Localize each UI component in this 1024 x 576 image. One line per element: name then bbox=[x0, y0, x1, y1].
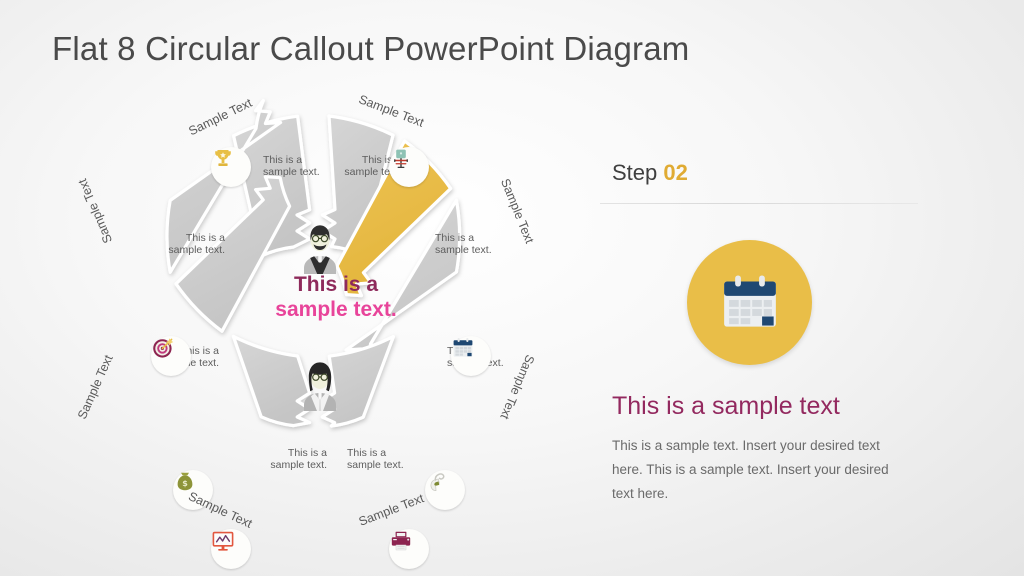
step-number: 02 bbox=[663, 160, 687, 185]
female-avatar-icon bbox=[294, 355, 346, 411]
monitor-chart-icon bbox=[211, 529, 235, 553]
chair-icon bbox=[389, 147, 413, 171]
center-text-line1: This is a bbox=[261, 272, 411, 297]
segment-8-icon-bubble[interactable] bbox=[211, 147, 251, 187]
trophy-icon bbox=[211, 147, 235, 171]
panel-divider bbox=[600, 203, 918, 204]
segment-4-body: This is a sample text. bbox=[347, 447, 409, 472]
page-title: Flat 8 Circular Callout PowerPoint Diagr… bbox=[52, 30, 689, 68]
segment-2-body: This is a sample text. bbox=[435, 232, 497, 257]
panel-icon-circle[interactable] bbox=[687, 240, 812, 365]
svg-text:$: $ bbox=[182, 479, 188, 488]
calendar-icon bbox=[717, 270, 783, 336]
segment-5-icon-bubble[interactable] bbox=[211, 529, 251, 569]
slide-canvas: Flat 8 Circular Callout PowerPoint Diagr… bbox=[0, 0, 1024, 576]
segment-1-icon-bubble[interactable] bbox=[389, 147, 429, 187]
panel-body-text: This is a sample text. Insert your desir… bbox=[612, 434, 912, 506]
step-word: Step bbox=[612, 160, 657, 185]
center-text: This is a sample text. bbox=[261, 272, 411, 322]
target-icon bbox=[151, 336, 175, 360]
male-avatar-icon bbox=[294, 218, 346, 274]
segment-2-icon-bubble[interactable] bbox=[451, 336, 491, 376]
segment-4-icon-bubble[interactable] bbox=[389, 529, 429, 569]
segment-7-body: This is a sample text. bbox=[163, 232, 225, 257]
segment-7-icon-bubble[interactable] bbox=[151, 336, 191, 376]
center-text-line2: sample text. bbox=[261, 297, 411, 322]
calendar-icon bbox=[451, 336, 475, 360]
panel-heading: This is a sample text bbox=[612, 392, 840, 421]
segment-3-icon-bubble[interactable] bbox=[425, 470, 465, 510]
segment-8-body: This is a sample text. bbox=[263, 154, 325, 179]
mouse-icon bbox=[425, 470, 449, 494]
circular-callout-diagram: This is a sample text. This is a sample … bbox=[85, 92, 555, 552]
printer-icon bbox=[389, 529, 413, 553]
segment-5-body: This is a sample text. bbox=[265, 447, 327, 472]
step-heading: Step 02 bbox=[612, 160, 688, 186]
